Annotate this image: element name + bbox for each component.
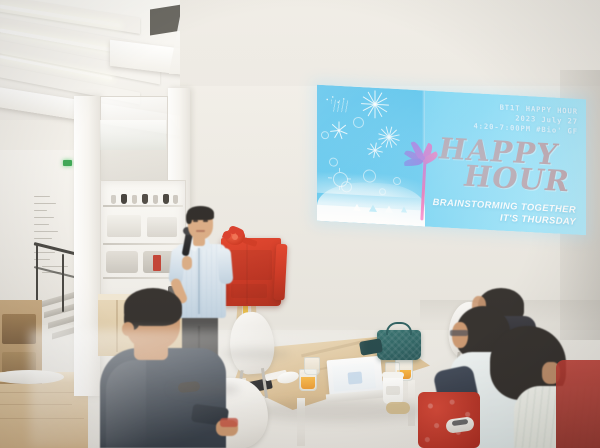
room-interior: BT1T HAPPY HOUR 2023 July 27 4:20-7:00PM… xyxy=(0,0,600,448)
plaque-crease xyxy=(246,240,248,304)
shoe xyxy=(386,402,410,414)
eyeglasses xyxy=(450,330,468,336)
exit-sign-icon xyxy=(63,160,72,166)
presenter-eye xyxy=(203,220,208,222)
presenter-hand xyxy=(182,256,192,270)
glass-reflection xyxy=(100,120,166,150)
draped-red-garment xyxy=(556,360,600,448)
presenter-eye xyxy=(193,220,198,222)
display-jar xyxy=(132,195,137,204)
display-jar xyxy=(111,195,116,204)
display-jar xyxy=(153,195,158,204)
display-box xyxy=(107,215,141,237)
presenter-sideburn xyxy=(186,212,192,224)
handbag-handle xyxy=(386,322,412,335)
coffee-cup-lid xyxy=(382,372,404,378)
display-accent-red xyxy=(153,255,161,271)
display-jar xyxy=(173,195,178,204)
presenter-sleeve-right xyxy=(216,247,233,284)
display-jar xyxy=(121,194,127,204)
display-jar xyxy=(163,194,169,204)
projection-sheen xyxy=(317,85,586,236)
coffee-cup-sleeve xyxy=(386,386,400,395)
presenter-mouth xyxy=(196,230,205,232)
floor-reflection xyxy=(30,330,360,448)
display-textile xyxy=(106,251,138,273)
office-presentation-photo: BT1T HAPPY HOUR 2023 July 27 4:20-7:00PM… xyxy=(0,0,600,448)
projected-presentation-slide: BT1T HAPPY HOUR 2023 July 27 4:20-7:00PM… xyxy=(317,85,586,236)
display-jar xyxy=(142,194,148,204)
